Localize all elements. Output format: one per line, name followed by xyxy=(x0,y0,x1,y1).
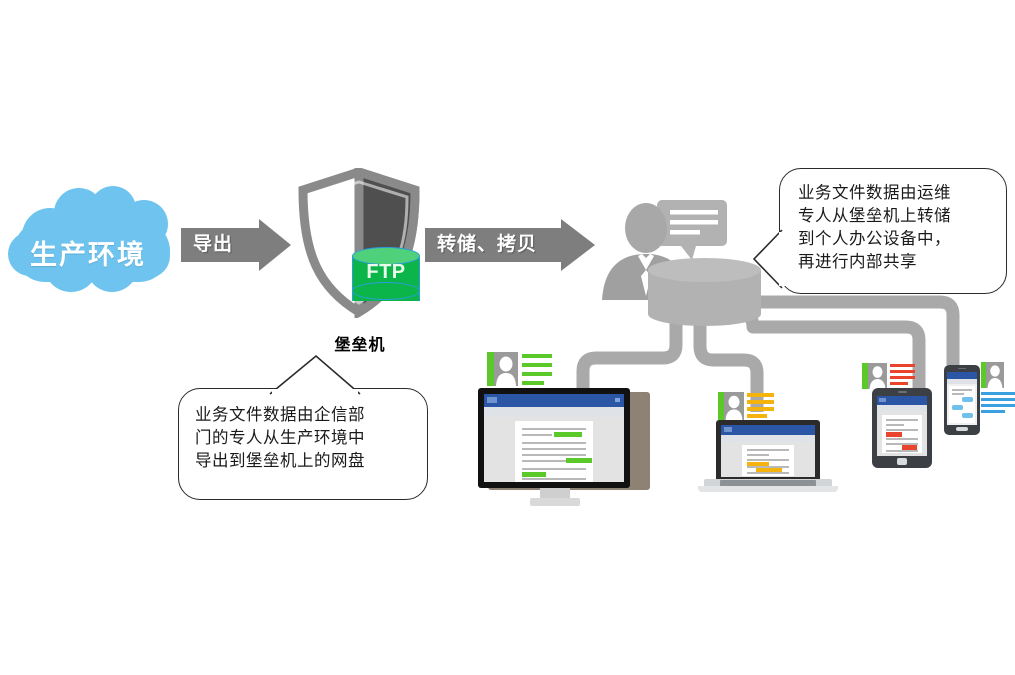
diagram-canvas: 生产环境 导出 FTP 堡垒机 转储、拷贝 xyxy=(0,0,1015,675)
smartphone-icon xyxy=(944,365,980,435)
arrow-export-label: 导出 xyxy=(181,219,233,271)
database-cylinder-icon: FTP xyxy=(352,247,420,309)
arrow-export: 导出 xyxy=(181,219,291,271)
avatar xyxy=(986,362,1004,388)
avatar xyxy=(868,363,887,389)
arrow-head xyxy=(561,219,595,271)
desktop-monitor-icon xyxy=(478,388,650,506)
ftp-label: FTP xyxy=(352,261,420,284)
laptop-icon xyxy=(698,420,838,492)
contact-card-laptop xyxy=(718,392,776,420)
avatar xyxy=(724,392,744,420)
contact-card-phone xyxy=(981,362,1015,388)
avatar xyxy=(494,352,518,386)
hub-database-icon xyxy=(648,258,761,326)
cloud-label: 生产环境 xyxy=(0,233,176,272)
arrow-head xyxy=(259,219,291,271)
connector-pipes xyxy=(0,0,1015,675)
callout-operator: 业务文件数据由运维 专人从堡垒机上转储 到个人办公设备中， 再进行内部共享 xyxy=(779,168,1007,294)
callout-bastion-tail xyxy=(268,352,368,396)
contact-card-tablet xyxy=(862,363,916,389)
callout-operator-text: 业务文件数据由运维 专人从堡垒机上转储 到个人办公设备中， 再进行内部共享 xyxy=(798,182,991,274)
arrow-transfer-copy: 转储、拷贝 xyxy=(425,219,595,271)
tablet-icon xyxy=(872,388,932,468)
arrow-transfer-label: 转储、拷贝 xyxy=(425,219,537,271)
contact-card-desktop xyxy=(487,352,553,386)
callout-operator-tail xyxy=(750,228,786,292)
callout-bastion-text: 业务文件数据由企信部 门的专人从生产环境中 导出到堡垒机上的网盘 xyxy=(195,404,415,473)
callout-bastion: 业务文件数据由企信部 门的专人从生产环境中 导出到堡垒机上的网盘 xyxy=(178,388,428,500)
